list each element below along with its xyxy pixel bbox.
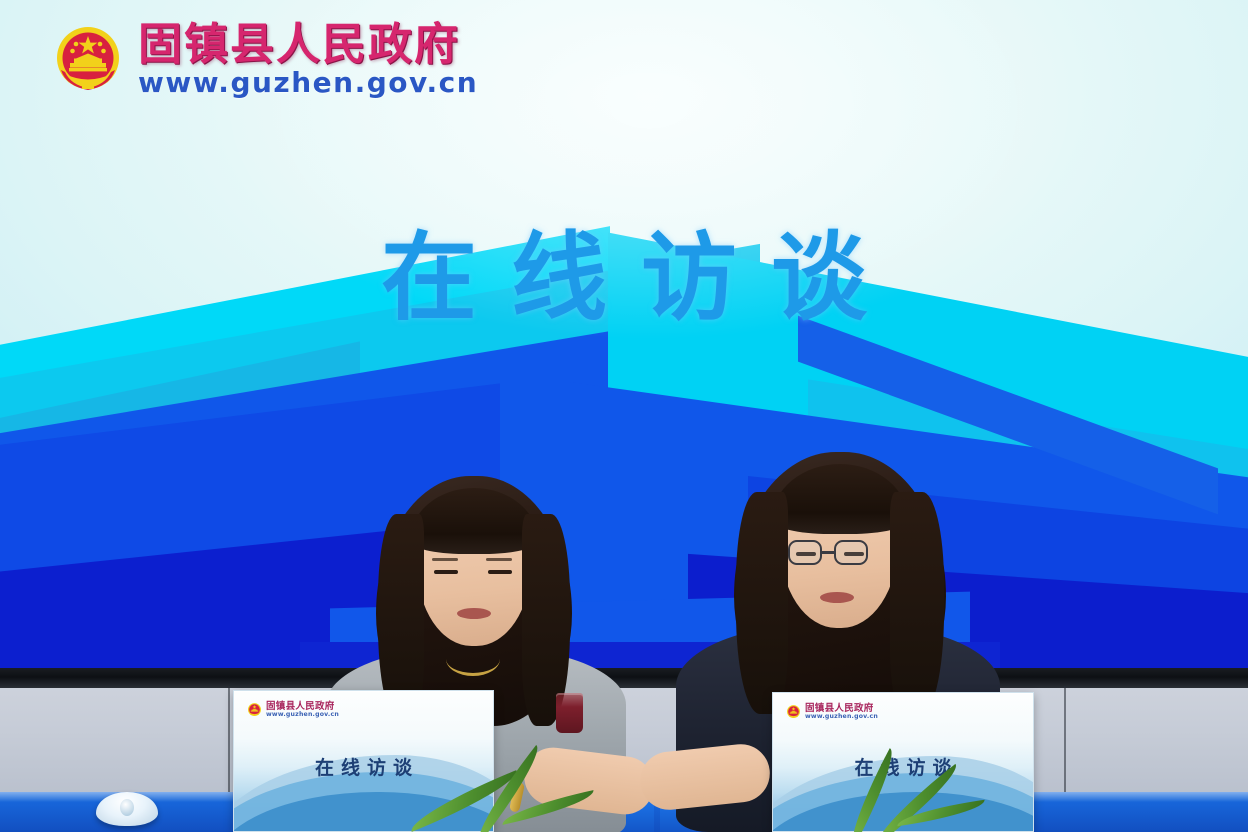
participant-right-hair-side-right [890,492,944,718]
nameplate-left-logo: 固镇县人民政府 www.guzhen.gov.cn [247,702,339,718]
organization-name: 固镇县人民政府 [138,23,478,67]
participant-left-eye-left [434,570,458,574]
desk-panel-seam-left [228,686,230,798]
participant-left-brow-left [432,558,458,561]
eyeglasses-lens-left [788,540,822,565]
page-title: 在线访谈 [0,228,1248,329]
participant-left-necklace [446,642,500,676]
national-emblem-icon [52,22,124,98]
national-emblem-icon [786,704,801,720]
nameplate-left-logo-text: 固镇县人民政府 www.guzhen.gov.cn [266,702,339,718]
participant-left-mouth [457,608,491,619]
participant-right-mouth [820,592,854,603]
nameplate-right-url: www.guzhen.gov.cn [805,714,878,720]
national-emblem-icon [247,702,262,718]
nameplate-right-logo-text: 固镇县人民政府 www.guzhen.gov.cn [805,704,878,720]
participant-right-hair-side-left [736,492,788,714]
eyeglasses-icon [788,540,890,570]
desk-panel-seam-right [1064,686,1066,798]
logo-text-block: 固镇县人民政府 www.guzhen.gov.cn [138,23,478,97]
nameplate-right-logo: 固镇县人民政府 www.guzhen.gov.cn [786,704,878,720]
website-url: www.guzhen.gov.cn [138,69,478,97]
microphone-badge-icon [120,799,134,816]
nameplate-left-title: 在线访谈 [234,753,493,780]
government-logo: 固镇县人民政府 www.guzhen.gov.cn [52,22,478,98]
nameplate-right-title: 在线访谈 [773,753,1033,780]
drinking-glass [556,693,583,733]
participant-left-eye-right [488,570,512,574]
participant-left-brow-right [486,558,512,561]
eyeglasses-lens-right [834,540,868,565]
broadcast-stage: 固镇县人民政府 www.guzhen.gov.cn 在线访谈 [0,0,1248,832]
eyeglasses-bridge [822,551,834,554]
nameplate-left-url: www.guzhen.gov.cn [266,712,339,718]
